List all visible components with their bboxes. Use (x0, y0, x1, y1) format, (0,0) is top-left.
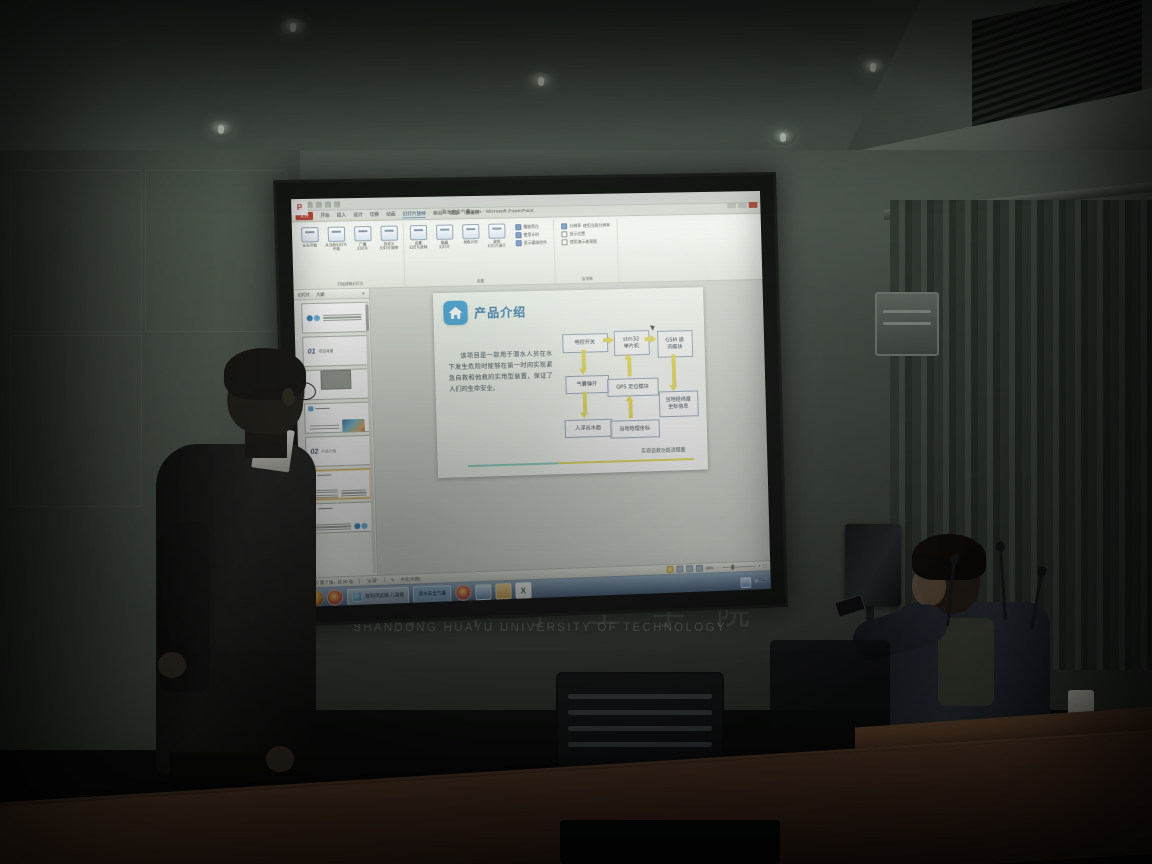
taskbar-window-label: 搜狗浏览器-儿童版 (365, 592, 404, 600)
zoom-out-button[interactable]: − (717, 565, 720, 570)
checkbox-use-timings[interactable]: 使用计时 (515, 232, 546, 239)
tab-outline[interactable]: 大纲 (316, 291, 324, 297)
flow-arrow-down (671, 354, 676, 386)
foreground-chair (560, 820, 780, 864)
slide-editor[interactable]: 产品介绍 该项目是一款用于潜水人员在水下发生危险时能够在第一时间实现紧急自救和他… (370, 280, 770, 575)
ribbon-group-setup: 设置 幻灯片放映 隐藏 幻灯片 排练计时 (404, 220, 557, 287)
button-label: 广播 幻灯片 (357, 242, 368, 251)
wall-panel (10, 170, 142, 332)
checkbox-label: 显示媒体控件 (524, 240, 547, 246)
button-label: 从头开始 (302, 243, 317, 248)
presenter-hand-lower (266, 746, 294, 772)
flow-arrow-right (644, 337, 651, 341)
theme-name: "水滴" (366, 577, 378, 583)
flow-diagram: 电控开关 stm32 单片机 GSM 通 讯模块 气囊弹开 GPS 定位模块 当… (562, 331, 700, 456)
slideshow-view-button[interactable] (696, 565, 703, 572)
hide-slide-icon (435, 224, 453, 239)
button-broadcast-slideshow[interactable]: 广播 幻灯片 (351, 226, 374, 251)
ie-icon (352, 592, 362, 602)
zoom-in-button[interactable]: + (758, 564, 761, 569)
slide-title: 产品介绍 (474, 303, 527, 321)
rehearse-icon (462, 224, 479, 239)
slide-sorter-button[interactable] (676, 566, 683, 573)
custom-show-icon (380, 226, 398, 241)
fit-slide-icon[interactable]: ⛶ (763, 563, 766, 568)
redo-icon[interactable] (325, 201, 331, 207)
zoom-slider[interactable] (722, 566, 755, 569)
downlight-icon (770, 128, 796, 145)
spellcheck-icon[interactable]: ✎ (391, 577, 395, 582)
flow-node-geo-coordinates: 当地地理坐标 (610, 419, 660, 438)
flow-arrow-up (628, 400, 632, 418)
taskbar-window-browser[interactable]: 搜狗浏览器-儿童版 (347, 586, 410, 605)
customize-icon[interactable] (334, 201, 340, 207)
attendee-hair (912, 534, 986, 580)
button-label: 设置 幻灯片放映 (409, 241, 427, 250)
flow-node-surface: 人浮出水面 (564, 419, 612, 438)
flow-node-airbag: 气囊弹开 (565, 375, 609, 394)
system-tray[interactable]: 中 🔊 (740, 576, 766, 588)
tab-transitions[interactable]: 切换 (370, 212, 379, 218)
presenter-hand (158, 652, 186, 678)
tab-animations[interactable]: 动画 (386, 211, 395, 217)
checkbox-icon[interactable] (561, 223, 567, 229)
option-label: 显示位置 (570, 231, 586, 237)
flow-node-gps: GPS 定位模块 (607, 378, 659, 397)
flow-node-coordinates-info: 当地经纬度 坐标信息 (658, 390, 698, 417)
taskbar-window-powerpoint[interactable]: 潜水安全气囊 (413, 585, 451, 604)
ribbon-group-monitors: 分辨率 使用当前分辨率 显示位置 使用演示者 (554, 218, 619, 283)
current-slide[interactable]: 产品介绍 该项目是一款用于潜水人员在水下发生危险时能够在第一时间实现紧急自救和他… (432, 287, 707, 478)
wall-speaker (875, 292, 939, 356)
checkbox-label: 使用演示者视图 (570, 239, 597, 246)
downlight-icon (208, 120, 234, 137)
button-label: 隐藏 幻灯片 (439, 241, 450, 250)
option-resolution[interactable]: 分辨率 使用当前分辨率 (561, 222, 610, 229)
flow-arrow-down (581, 350, 586, 370)
mouse-cursor (649, 323, 655, 330)
group-label: 设置 (477, 279, 485, 284)
presentation-room-photo: 山 东 华 宇 工 学 院 SHANDONG HUAYU UNIVERSITY … (0, 0, 1152, 864)
checkbox-label: 使用计时 (523, 232, 539, 238)
close-icon[interactable]: ✕ (362, 291, 366, 296)
close-icon[interactable] (749, 202, 758, 208)
powerpoint-taskbar-icon[interactable]: P (291, 199, 308, 215)
downlight-icon (280, 18, 306, 35)
checkbox-icon[interactable] (562, 231, 568, 237)
excel-icon[interactable]: X (515, 582, 531, 599)
button-start-from-current[interactable]: 从当前幻灯片 开始 (325, 226, 348, 251)
slideshow-current-icon (327, 227, 345, 242)
checkbox-presenter-view[interactable]: 使用演示者视图 (562, 238, 611, 245)
tab-slideshow[interactable]: 幻灯片放映 (402, 210, 425, 217)
powerpoint-window: 潜水安全气囊.pptx - Microsoft PowerPoint 文件 开始… (291, 191, 771, 607)
taskbar-window-label: 潜水安全气囊 (418, 590, 446, 597)
minimize-icon[interactable] (727, 202, 736, 208)
setup-checkbox-column: 播放旁白 使用计时 显示媒体控件 (511, 223, 551, 248)
group-label: 监视器 (582, 277, 593, 282)
button-hide-slide[interactable]: 隐藏 幻灯片 (433, 224, 456, 249)
wall-panel (145, 170, 287, 332)
ribbon-group-start-show: 从头开始 从当前幻灯片 开始 广播 幻灯片 (295, 222, 406, 289)
projection-screen: 潜水安全气囊.pptx - Microsoft PowerPoint 文件 开始… (273, 172, 788, 627)
list-item[interactable]: 2 (301, 302, 367, 334)
button-custom-slideshow[interactable]: 自定义 幻灯片放映 (377, 225, 400, 250)
thumb-lines (323, 314, 362, 321)
thumb-diagram (302, 303, 366, 333)
folder-icon[interactable] (495, 583, 511, 600)
checkbox-icon[interactable] (562, 239, 568, 245)
button-record-slideshow[interactable]: 录制 幻灯片演示 (485, 223, 508, 248)
button-label: 自定义 幻灯片放映 (380, 242, 398, 251)
reading-view-button[interactable] (686, 565, 693, 572)
projection-surface: 潜水安全气囊.pptx - Microsoft PowerPoint 文件 开始… (291, 191, 771, 607)
button-label: 排练计时 (463, 240, 478, 245)
button-setup-slideshow[interactable]: 设置 幻灯片放映 (407, 225, 430, 250)
thumb-flow (341, 489, 367, 496)
undo-icon[interactable] (316, 201, 322, 207)
record-icon (488, 223, 505, 238)
option-label: 分辨率 (569, 223, 581, 229)
slideshow-start-icon (301, 227, 319, 243)
button-start-from-beginning[interactable]: 从头开始 (298, 227, 321, 248)
diagram-icon (307, 315, 320, 321)
checkbox-icon[interactable] (516, 240, 522, 246)
broadcast-icon (354, 226, 372, 241)
volume-icon[interactable]: 🔊 (761, 578, 766, 584)
tab-slides[interactable]: 幻灯片 (298, 291, 310, 297)
venue-logo-english: SHANDONG HUAYU UNIVERSITY OF TECHNOLOGY (335, 622, 745, 634)
ime-icon[interactable]: 中 (754, 579, 758, 585)
downlight-icon (860, 58, 886, 75)
language-indicator[interactable]: 中文(中国) (401, 576, 421, 583)
network-icon[interactable] (740, 576, 751, 587)
slide-paragraph: 该项目是一款用于潜水人员在水下发生危险时能够在第一时间实现紧急自救和他救的实用型… (448, 349, 553, 396)
tab-insert[interactable]: 插入 (337, 212, 347, 218)
flow-arrow-up (627, 358, 631, 376)
flow-arrow-right (602, 338, 608, 342)
underwater-photo (342, 419, 365, 434)
workspace: 幻灯片 大纲 ✕ 2 (294, 280, 770, 578)
slide-caption: 实现自救功能流程图 (641, 446, 685, 454)
restore-icon[interactable] (738, 202, 747, 208)
utility-app-icon[interactable] (475, 584, 491, 601)
normal-view-button[interactable] (666, 566, 673, 573)
attendee-vest (938, 618, 994, 706)
checkbox-icon[interactable] (515, 224, 521, 230)
slide-footer-rule (467, 458, 693, 467)
flow-node-stm32: stm32 单片机 (613, 330, 649, 356)
checkbox-show-media-controls[interactable]: 显示媒体控件 (516, 240, 547, 247)
divider (384, 578, 385, 583)
button-label: 录制 幻灯片演示 (488, 239, 506, 248)
projected-desktop: 潜水安全气囊.pptx - Microsoft PowerPoint 文件 开始… (291, 191, 771, 607)
monitor-options-column: 分辨率 使用当前分辨率 显示位置 使用演示者 (557, 221, 614, 246)
ribbon[interactable]: 从头开始 从当前幻灯片 开始 广播 幻灯片 (292, 214, 763, 291)
button-rehearse-timings[interactable]: 排练计时 (459, 224, 482, 245)
mesh-office-chair (556, 672, 724, 770)
side-chair (770, 640, 890, 730)
option-value: 使用当前分辨率 (583, 222, 610, 228)
checkbox-icon[interactable] (515, 232, 521, 238)
presenter-person (150, 352, 335, 822)
slide-header: 产品介绍 (443, 299, 527, 325)
checkbox-label: 播放旁白 (523, 224, 539, 230)
setup-show-icon (409, 225, 427, 240)
group-label: 开始放映幻灯片 (337, 282, 363, 288)
window-controls[interactable] (727, 202, 757, 208)
flow-arrow-down (582, 392, 587, 414)
tab-design[interactable]: 设计 (353, 212, 363, 218)
checkbox-play-narration[interactable]: 播放旁白 (515, 224, 546, 231)
chair-back (556, 672, 724, 770)
home-icon (443, 301, 468, 326)
tab-home[interactable]: 开始 (320, 213, 330, 219)
bubble-graphic (354, 523, 367, 530)
wall-panel (10, 335, 142, 507)
option-display-on[interactable]: 显示位置 (562, 230, 611, 237)
divider (359, 579, 360, 584)
colorful-app-icon[interactable] (455, 584, 472, 601)
button-label: 从当前幻灯片 开始 (325, 243, 347, 252)
downlight-icon (528, 72, 554, 89)
zoom-level[interactable]: 49% (706, 565, 714, 570)
